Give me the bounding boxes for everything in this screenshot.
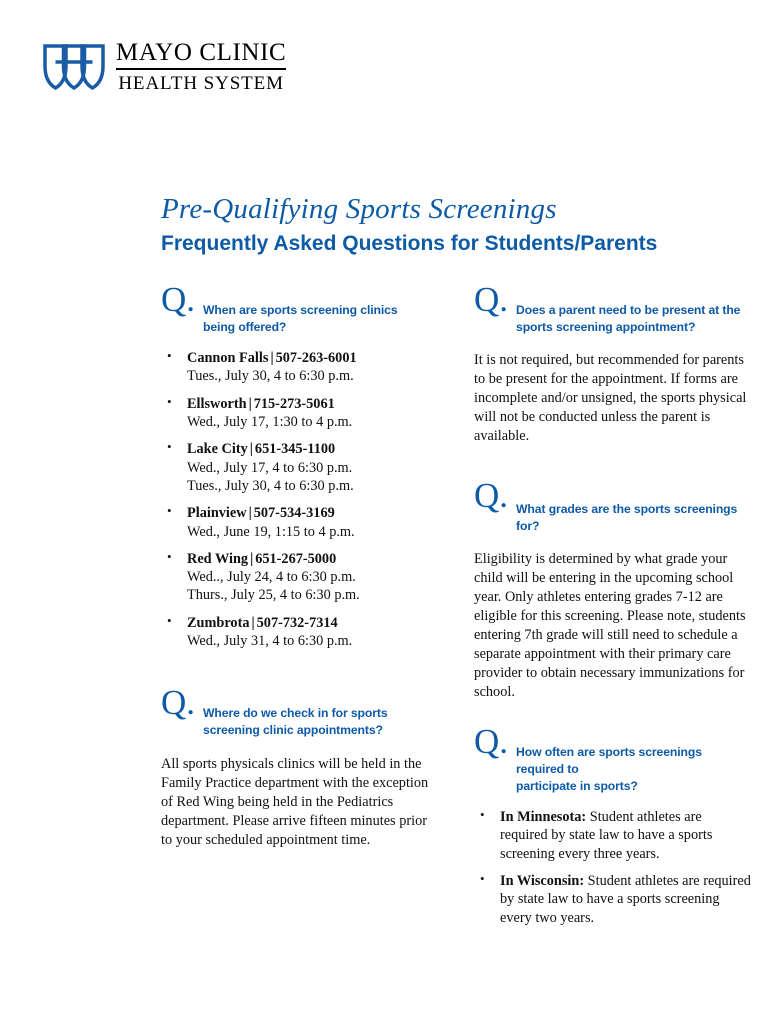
question-text: Does a parent need to be present at the … xyxy=(516,288,740,335)
clinic-city: Plainview xyxy=(187,505,247,521)
state-rule-list: In Minnesota: Student athletes are requi… xyxy=(474,808,751,927)
question-heading: Q. When are sports screening clinics bei… xyxy=(161,288,438,335)
clinic-time: Wed., June 19, 1:15 to 4 p.m. xyxy=(187,523,438,541)
list-item: Lake City|651-345-1100 Wed., July 17, 4 … xyxy=(161,440,438,495)
faq-item-clinic-schedule: Q. When are sports screening clinics bei… xyxy=(161,288,438,650)
page-title: Pre-Qualifying Sports Screenings xyxy=(161,193,741,226)
faq-item-eligible-grades: Q. What grades are the sports screenings… xyxy=(474,484,751,702)
logo-primary-text: MAYO CLINIC xyxy=(116,40,286,70)
answer-text: All sports physicals clinics will be hel… xyxy=(161,755,438,850)
state-label: In Wisconsin: xyxy=(500,873,584,889)
list-item: Ellsworth|715-273-5061 Wed., July 17, 1:… xyxy=(161,395,438,432)
state-label: In Minnesota: xyxy=(500,809,586,825)
faq-item-screening-frequency: Q. How often are sports screenings requi… xyxy=(474,730,751,927)
faq-item-parent-presence: Q. Does a parent need to be present at t… xyxy=(474,288,751,446)
faq-column-right: Q. Does a parent need to be present at t… xyxy=(474,288,751,936)
clinic-time: Wed., July 17, 1:30 to 4 p.m. xyxy=(187,413,438,431)
question-heading: Q. How often are sports screenings requi… xyxy=(474,730,751,794)
question-heading: Q. Where do we check in for sports scree… xyxy=(161,691,438,738)
separator: | xyxy=(268,350,275,366)
separator: | xyxy=(248,441,255,457)
clinic-phone: 507-534-3169 xyxy=(254,505,335,521)
question-line-2: screening clinic appointments? xyxy=(203,723,383,737)
clinic-city: Cannon Falls xyxy=(187,350,268,366)
section-spacer xyxy=(474,708,751,730)
page-subtitle: Frequently Asked Questions for Students/… xyxy=(161,231,741,257)
answer-paragraph: All sports physicals clinics will be hel… xyxy=(161,755,438,850)
separator: | xyxy=(250,615,257,631)
clinic-phone: 651-267-5000 xyxy=(255,551,336,567)
faq-column-left: Q. When are sports screening clinics bei… xyxy=(161,288,438,936)
question-line-1: How often are sports screenings required… xyxy=(516,745,702,776)
clinic-city: Red Wing xyxy=(187,551,248,567)
list-item: Red Wing|651-267-5000 Wed.., July 24, 4 … xyxy=(161,550,438,605)
question-text: How often are sports screenings required… xyxy=(516,730,751,794)
question-line-2: sports screening appointment? xyxy=(516,320,695,334)
list-item: Cannon Falls|507-263-6001 Tues., July 30… xyxy=(161,349,438,386)
clinic-phone: 715-273-5061 xyxy=(254,396,335,412)
clinic-city: Ellsworth xyxy=(187,396,247,412)
question-line-1: Does a parent need to be present at the xyxy=(516,303,740,317)
answer-paragraph: It is not required, but recommended for … xyxy=(474,351,751,446)
clinic-time: Wed., July 31, 4 to 6:30 p.m. xyxy=(187,632,438,650)
section-spacer xyxy=(474,452,751,484)
question-mark-glyph: Q. xyxy=(474,481,508,511)
separator: | xyxy=(247,505,254,521)
faq-item-check-in-location: Q. Where do we check in for sports scree… xyxy=(161,691,438,849)
list-item: Zumbrota|507-732-7314 Wed., July 31, 4 t… xyxy=(161,614,438,651)
list-item: In Minnesota: Student athletes are requi… xyxy=(474,808,751,863)
question-text: When are sports screening clinics being … xyxy=(203,288,397,335)
logo-secondary-text: HEALTH SYSTEM xyxy=(116,70,286,96)
faq-columns: Q. When are sports screening clinics bei… xyxy=(161,288,751,936)
clinic-phone: 507-263-6001 xyxy=(276,350,357,366)
clinic-city: Lake City xyxy=(187,441,248,457)
question-mark-glyph: Q. xyxy=(161,285,195,315)
answer-paragraph: Eligibility is determined by what grade … xyxy=(474,550,751,702)
question-line-1: When are sports screening clinics xyxy=(203,303,397,317)
question-heading: Q. What grades are the sports screenings… xyxy=(474,484,751,534)
clinic-time: Wed., July 17, 4 to 6:30 p.m. xyxy=(187,459,438,477)
document-header: Pre-Qualifying Sports Screenings Frequen… xyxy=(161,193,741,258)
clinic-time: Thurs., July 25, 4 to 6:30 p.m. xyxy=(187,586,438,604)
clinic-time: Wed.., July 24, 4 to 6:30 p.m. xyxy=(187,568,438,586)
separator: | xyxy=(247,396,254,412)
answer-text: It is not required, but recommended for … xyxy=(474,351,751,446)
question-line-2: participate in sports? xyxy=(516,779,638,793)
question-mark-glyph: Q. xyxy=(474,727,508,757)
clinic-time: Tues., July 30, 4 to 6:30 p.m. xyxy=(187,367,438,385)
answer-text: Eligibility is determined by what grade … xyxy=(474,550,751,702)
clinic-city: Zumbrota xyxy=(187,615,250,631)
question-text: What grades are the sports screenings fo… xyxy=(516,484,751,534)
list-item: Plainview|507-534-3169 Wed., June 19, 1:… xyxy=(161,504,438,541)
section-spacer xyxy=(161,659,438,691)
question-mark-glyph: Q. xyxy=(161,688,195,718)
list-item: In Wisconsin: Student athletes are requi… xyxy=(474,872,751,927)
mayo-clinic-logo: MAYO CLINIC HEALTH SYSTEM xyxy=(42,40,286,96)
mayo-clinic-shield-icon xyxy=(42,42,106,92)
question-mark-glyph: Q. xyxy=(474,285,508,315)
question-heading: Q. Does a parent need to be present at t… xyxy=(474,288,751,335)
clinic-time: Tues., July 30, 4 to 6:30 p.m. xyxy=(187,477,438,495)
question-text: Where do we check in for sports screenin… xyxy=(203,691,388,738)
question-line-2: being offered? xyxy=(203,320,286,334)
clinic-list: Cannon Falls|507-263-6001 Tues., July 30… xyxy=(161,349,438,650)
question-line-1: Where do we check in for sports xyxy=(203,706,388,720)
clinic-phone: 507-732-7314 xyxy=(257,615,338,631)
clinic-phone: 651-345-1100 xyxy=(255,441,335,457)
